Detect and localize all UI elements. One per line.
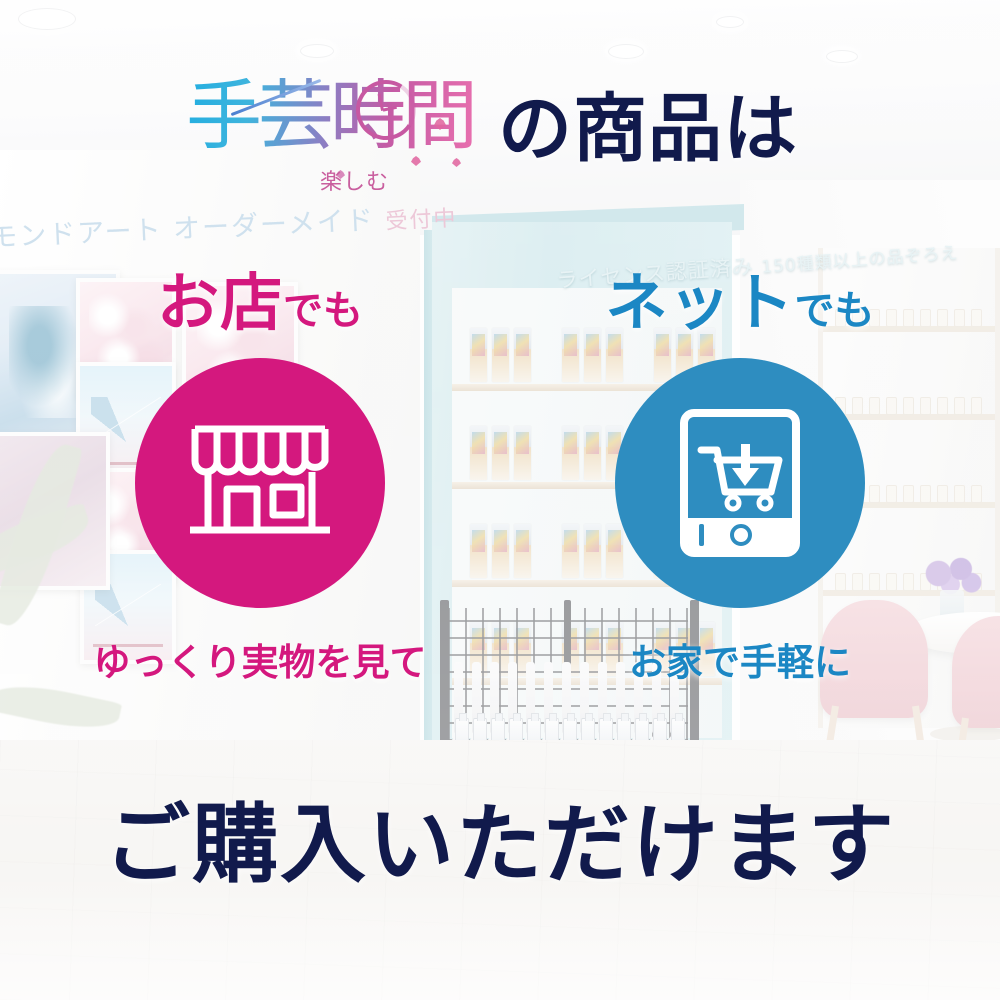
panel-store: お店でも ゆっくり実物を見て [50,272,470,334]
footer-headline: ご購入いただけます [0,802,1000,888]
panel-store-title-small: でも [283,288,363,334]
panel-store-title-large: お店 [157,266,283,339]
panel-online-title-small: でも [795,288,875,334]
panel-store-caption: ゆっくり実物を見て [50,644,470,681]
page-title: の商品は [498,92,798,166]
panel-store-icon-circle [135,358,385,608]
panel-online-caption: お家で手軽に [530,644,950,681]
storefront-icon [185,417,335,549]
mobile-shopping-cart-icon [679,408,801,558]
panel-online: ネットでも お家で手軽に [530,272,950,334]
brand-logo-subtext: 楽しむ [320,164,389,196]
wall-sign-badge-text: 受付中 [385,206,458,234]
panel-online-title: ネットでも [530,272,950,334]
promo-banner: モンドアート オーダーメイド 受付中 ライセンス認証済み 150種類以上の品ぞろ… [0,0,1000,1000]
brand-logo-text: 手芸時間 [186,78,474,154]
panel-online-title-large: ネット [605,266,794,339]
panel-store-title: お店でも [50,272,470,334]
panel-online-icon-circle [615,358,865,608]
brand-logo: 手芸時間 楽しむ [186,78,486,200]
